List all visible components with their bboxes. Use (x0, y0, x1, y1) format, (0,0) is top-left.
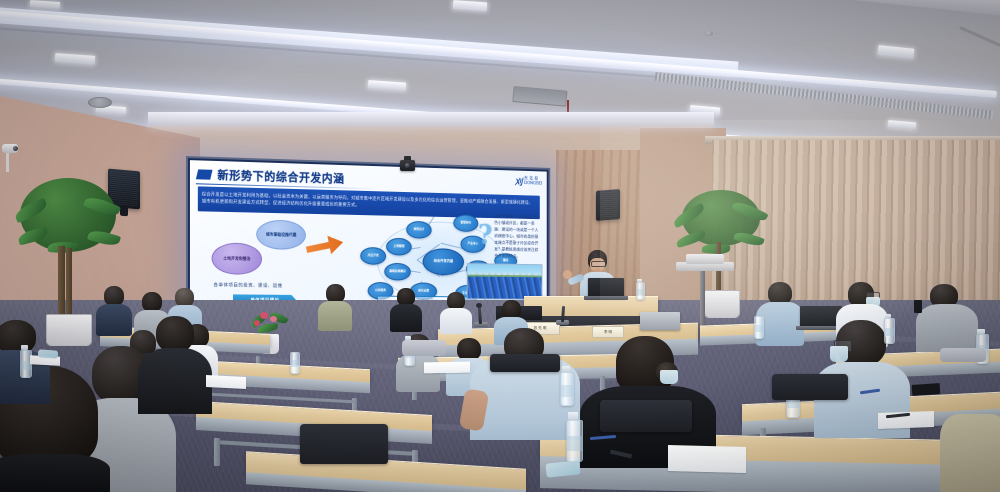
question-mark-icon: ? (478, 219, 493, 251)
bottle-cap (21, 345, 28, 350)
node-label: 公共服务 (375, 289, 386, 292)
orange-arrow-icon (304, 231, 345, 260)
bottle-cap (637, 279, 642, 282)
node-label: 基础设施建设 (389, 270, 405, 273)
diagram-node-1: 土地整理 (386, 238, 412, 256)
wall-speaker (596, 189, 620, 221)
attendee-back-3 (440, 292, 472, 332)
ceiling-led-strip (0, 10, 997, 98)
bottle-cap (568, 412, 578, 420)
slide-left-caption: 各单体项目的投资、建设、运维 (214, 282, 283, 289)
face-mask-on-desk[interactable] (38, 349, 59, 358)
node-label: 片区开发 (368, 254, 379, 257)
node-label: 智慧城市 (460, 222, 471, 225)
plant-pot (704, 290, 740, 318)
bottle-cap (885, 314, 891, 318)
company-logo: 刈 东 北 投 DONGBEI (515, 175, 542, 188)
projection-screen: 新形势下的综合开发内涵 刈 东 北 投 DONGBEI 综合开发是以土地开发利用… (186, 156, 550, 310)
water-bottle[interactable] (566, 420, 583, 462)
bottle-cap (977, 329, 985, 334)
water-bottle[interactable] (884, 318, 895, 344)
presenter-laptop (588, 278, 624, 298)
projector (686, 254, 724, 264)
presenter-laptop-base (584, 296, 628, 300)
water-bottle[interactable] (560, 372, 574, 406)
ceiling-speaker (88, 97, 112, 108)
chair[interactable] (300, 424, 388, 464)
bottle-cap (562, 366, 570, 372)
chair[interactable] (600, 400, 692, 432)
presentation-slide: 新形势下的综合开发内涵 刈 东 北 投 DONGBEI 综合开发是以土地开发利用… (190, 160, 547, 306)
projector-stand-pole (700, 268, 705, 330)
face-mask (660, 370, 678, 384)
ceiling-downlight (368, 80, 406, 91)
water-bottle[interactable] (290, 352, 300, 374)
smartphone[interactable] (914, 300, 922, 313)
diagram-node-8: 智慧城市 (453, 214, 478, 232)
light-cove (148, 112, 714, 126)
attendee-dark-polo (138, 316, 212, 412)
ceiling-downlight (453, 0, 488, 11)
slide-pill-infrastructure: 城市基础设施代建 (256, 220, 306, 250)
attendee-bottom-right (940, 404, 1000, 492)
plant-pot (46, 314, 92, 346)
logo-mark-icon: 刈 (514, 175, 524, 187)
node-label: 产业导入 (468, 243, 479, 246)
smartphone[interactable] (912, 383, 941, 396)
diagram-node-center: 综合开发内涵 (423, 248, 464, 275)
chair[interactable] (402, 340, 446, 356)
notebook[interactable] (668, 445, 746, 473)
node-label: 土地整理 (393, 245, 404, 248)
attendee-right-leaning (916, 284, 978, 350)
ceiling-downlight (30, 0, 60, 9)
title-bullet-icon (196, 169, 213, 179)
pill-label: 土地开发和整治 (223, 256, 250, 262)
slide-banner-text: 综合开发是以土地开发利用为基础，以社会资本为关键，以运营服务为导向，对城市集中连… (202, 192, 537, 214)
slide-pill-land-development: 土地开发和整治 (212, 242, 262, 274)
notebook[interactable] (424, 362, 470, 374)
node-label: 规划设计 (414, 228, 425, 231)
ceiling-air-vent (512, 86, 567, 107)
fire-sprinkler (705, 31, 713, 36)
slide-right-note: 思考：新城、产业园区、特色小镇或片区，都是一条路：建设的一块或是一个人机稠密中心… (494, 213, 541, 260)
diagram-node-6: 片区开发 (360, 247, 386, 265)
conference-room-photo: 新形势下的综合开发内涵 刈 东 北 投 DONGBEI 综合开发是以土地开发利用… (0, 0, 1000, 492)
name-card-text: 李 明 (604, 330, 612, 335)
chair[interactable] (490, 354, 560, 372)
ceiling-downlight (888, 120, 917, 129)
screen-camera-lens (405, 163, 410, 168)
chair[interactable] (940, 348, 986, 362)
attendee-left-1 (96, 286, 132, 334)
security-camera-lens (13, 146, 18, 151)
water-bottle (636, 282, 645, 300)
ceiling-downlight (877, 45, 914, 59)
presenter-hand (563, 270, 572, 279)
microphone-head (476, 303, 482, 308)
presenter-glasses (591, 261, 606, 267)
pill-label: 城市基础设施代建 (266, 232, 297, 238)
city-aerial-photo (467, 263, 543, 300)
logo-text-secondary: DONGBEI (524, 182, 542, 187)
face-mask (830, 346, 848, 362)
attendee-back-1 (318, 284, 352, 328)
chair[interactable] (772, 374, 848, 400)
diagram-node-0: 规划设计 (406, 221, 431, 239)
ceiling-downlight (55, 53, 96, 65)
attendee-back-2 (390, 288, 422, 330)
water-bottle[interactable] (754, 316, 764, 339)
node-label: 综合开发内涵 (434, 260, 453, 264)
diagram-node-4: 基础设施建设 (384, 263, 411, 281)
node-label: 建设 (503, 259, 508, 262)
notebook[interactable] (206, 375, 246, 389)
front-table-laptop (640, 312, 680, 330)
security-camera-mount (6, 150, 9, 172)
